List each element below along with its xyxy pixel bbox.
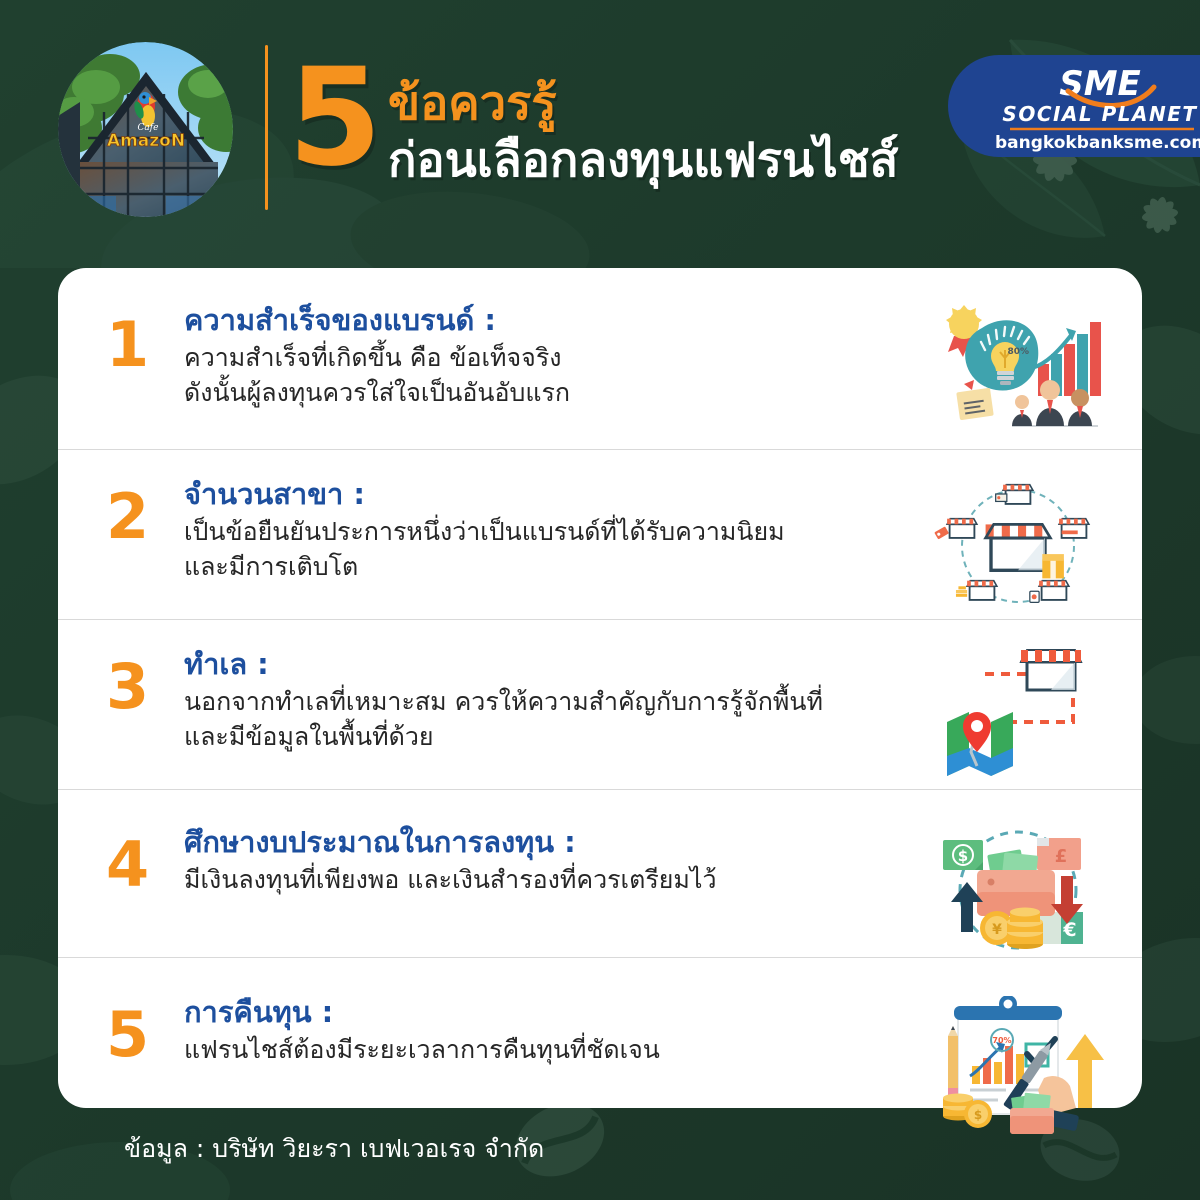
item-description-line: และมีการเติบโต xyxy=(184,550,914,585)
list-item[interactable]: 5 การคืนทุน : แฟรนไชส์ต้องมีระยะเวลาการค… xyxy=(58,958,1142,1108)
logo-website-text: bangkokbanksme.com xyxy=(995,133,1200,153)
header: Cafe AmazoN 5 ข้อควรรู้ ก่อนเลือกลงทุนแฟ… xyxy=(0,0,1200,250)
item-description-line: เป็นข้อยืนยันประการหนึ่งว่าเป็นแบรนด์ที่… xyxy=(184,515,914,550)
svg-text:€: € xyxy=(1062,919,1076,941)
item-number: 3 xyxy=(106,646,184,718)
item-description-line: นอกจากทำเลที่เหมาะสม ควรให้ความสำคัญกับก… xyxy=(184,685,914,720)
item-description: นอกจากทำเลที่เหมาะสม ควรให้ความสำคัญกับก… xyxy=(184,685,914,754)
idea-growth-team-icon: 80% xyxy=(928,292,1108,442)
item-number: 2 xyxy=(106,476,184,548)
item-description: เป็นข้อยืนยันประการหนึ่งว่าเป็นแบรนด์ที่… xyxy=(184,515,914,584)
logo-social-planet-text: SOCIAL PLANET xyxy=(1002,102,1197,126)
headline-number: 5 xyxy=(288,56,378,180)
icon-percent-label: 70% xyxy=(992,1036,1011,1045)
tips-card: 1 ความสำเร็จของแบรนด์ : ความสำเร็จที่เกิ… xyxy=(58,268,1142,1108)
item-title: ความสำเร็จของแบรนด์ : xyxy=(184,302,914,339)
item-description: ความสำเร็จที่เกิดขึ้น คือ ข้อเท็จจริง ดั… xyxy=(184,341,914,410)
franchise-network-icon xyxy=(928,476,1108,616)
item-description-line: ความสำเร็จที่เกิดขึ้น คือ ข้อเท็จจริง xyxy=(184,341,914,376)
item-title: ศึกษางบประมาณในการลงทุน : xyxy=(184,824,914,861)
logo-sme-text: SME xyxy=(1059,64,1141,104)
item-title: การคืนทุน : xyxy=(184,994,914,1031)
item-description: แฟรนไชส์ต้องมีระยะเวลาการคืนทุนที่ชัดเจน xyxy=(184,1033,914,1068)
headline-line-1: ข้อควรรู้ xyxy=(388,76,898,131)
footer: ข้อมูล : บริษัท วิยะรา เบฟเวอเรจ จำกัด xyxy=(0,1108,1200,1200)
item-number: 4 xyxy=(106,824,184,896)
list-item[interactable]: 3 ทำเล : นอกจากทำเลที่เหมาะสม ควรให้ความ… xyxy=(58,620,1142,790)
item-title: ทำเล : xyxy=(184,646,914,683)
list-item[interactable]: 1 ความสำเร็จของแบรนด์ : ความสำเร็จที่เกิ… xyxy=(58,272,1142,450)
header-divider xyxy=(265,45,268,210)
item-number: 1 xyxy=(106,302,184,376)
headline-line-2: ก่อนเลือกลงทุนแฟรนไชส์ xyxy=(388,133,898,188)
item-title: จำนวนสาขา : xyxy=(184,476,914,513)
list-item[interactable]: 4 ศึกษางบประมาณในการลงทุน : มีเงินลงทุนท… xyxy=(58,790,1142,958)
svg-text:¥: ¥ xyxy=(992,922,1002,938)
svg-text:AmazoN: AmazoN xyxy=(107,131,185,151)
icon-percent-label: 80% xyxy=(1007,347,1029,357)
item-number: 5 xyxy=(106,994,184,1066)
list-item[interactable]: 2 จำนวนสาขา : เป็นข้อยืนยันประการหนึ่งว่… xyxy=(58,450,1142,620)
svg-text:£: £ xyxy=(1055,846,1068,867)
item-description-line: แฟรนไชส์ต้องมีระยะเวลาการคืนทุนที่ชัดเจน xyxy=(184,1033,914,1068)
item-description-line: ดังนั้นผู้ลงทุนควรใส่ใจเป็นอันอับแรก xyxy=(184,376,914,411)
item-description-line: และมีข้อมูลในพื้นที่ด้วย xyxy=(184,720,914,755)
map-location-shop-icon xyxy=(928,646,1108,786)
source-credit: ข้อมูล : บริษัท วิยะรา เบฟเวอเรจ จำกัด xyxy=(124,1134,544,1164)
cafe-amazon-photo: Cafe AmazoN xyxy=(58,42,233,217)
svg-text:$: $ xyxy=(958,847,968,865)
item-description-line: มีเงินลงทุนที่เพียงพอ และเงินสำรองที่ควร… xyxy=(184,863,914,898)
wallet-currency-icon: $ £ € xyxy=(928,820,1108,960)
title-block: 5 ข้อควรรู้ ก่อนเลือกลงทุนแฟรนไชส์ xyxy=(288,52,928,189)
item-description: มีเงินลงทุนที่เพียงพอ และเงินสำรองที่ควร… xyxy=(184,863,914,898)
sme-social-planet-logo[interactable]: SME SOCIAL PLANET bangkokbanksme.com xyxy=(948,55,1200,157)
